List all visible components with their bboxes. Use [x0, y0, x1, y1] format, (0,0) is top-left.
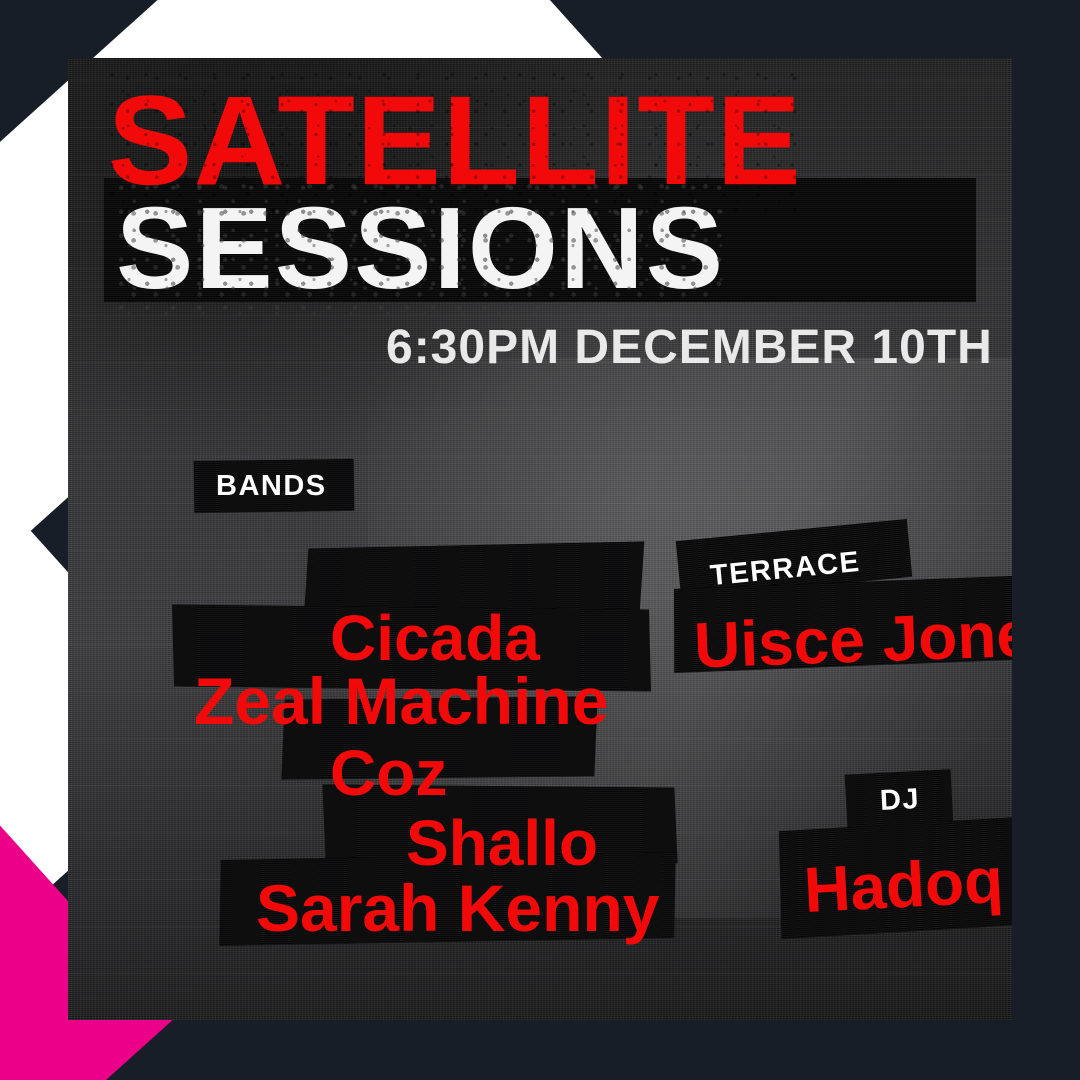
act-name-coz: Coz: [330, 736, 447, 810]
poster-canvas: SATELLITE SESSIONS 6:30PM DECEMBER 10TH …: [0, 0, 1080, 1080]
act-name-hadoq: Hadoq: [802, 843, 1005, 927]
act-name-sarah-kenny: Sarah Kenny: [256, 870, 659, 946]
poster-title-sub-text: SESSIONS: [116, 183, 725, 313]
act-name-uisce-jones: Uisce Jones: [693, 596, 1012, 683]
poster-card: SATELLITE SESSIONS 6:30PM DECEMBER 10TH …: [68, 58, 1012, 1020]
act-name-shallo: Shallo: [406, 806, 598, 880]
event-date-time: 6:30PM DECEMBER 10TH: [386, 320, 993, 375]
section-label-dj: DJ: [879, 783, 921, 818]
act-name-zeal-machine: Zeal Machine: [194, 663, 608, 739]
poster-title-sub: SESSIONS: [116, 181, 725, 315]
section-label-bands: BANDS: [216, 470, 327, 503]
